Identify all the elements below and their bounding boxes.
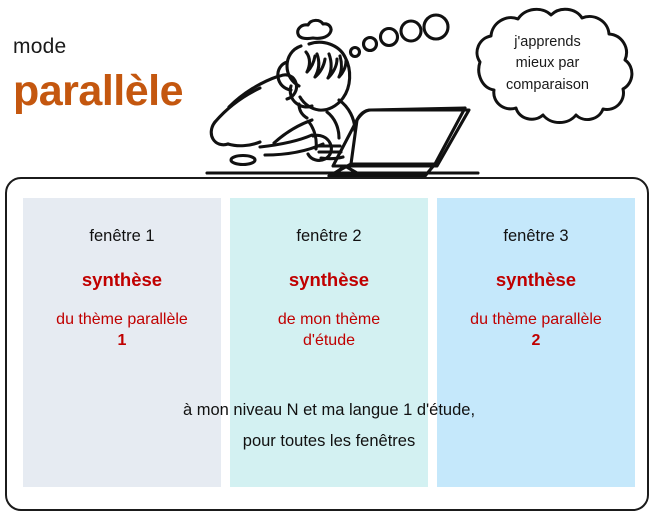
window-column-3-desc-plain: du thème parallèle (437, 309, 635, 330)
window-column-3-synthesis: synthèse (437, 271, 635, 290)
mode-title: parallèle (13, 70, 183, 113)
window-column-1-desc-plain: du thème parallèle (23, 309, 221, 330)
window-column-1-title: fenêtre 1 (23, 228, 221, 245)
windows-columns: fenêtre 1 synthèse du thème parallèle 1 … (23, 198, 635, 487)
window-column-1-description: du thème parallèle 1 (23, 309, 221, 352)
parallel-mode-panel: fenêtre 1 synthèse du thème parallèle 1 … (5, 177, 649, 511)
window-column-2[interactable]: fenêtre 2 synthèse de mon thème d'étude (230, 198, 428, 487)
window-column-3-title: fenêtre 3 (437, 228, 635, 245)
window-column-1[interactable]: fenêtre 1 synthèse du thème parallèle 1 (23, 198, 221, 487)
window-column-3-description: du thème parallèle 2 (437, 309, 635, 352)
window-column-2-desc-plain: de mon thème (230, 309, 428, 330)
thought-bubble: j'apprends mieux par comparaison (440, 2, 655, 144)
window-column-3-desc-emph: 2 (437, 330, 635, 351)
window-column-1-desc-emph: 1 (23, 330, 221, 351)
window-column-1-synthesis: synthèse (23, 271, 221, 290)
student-at-laptop-illustration (205, 0, 480, 180)
window-column-2-synthesis: synthèse (230, 271, 428, 290)
mode-label: mode (13, 36, 66, 57)
window-column-3[interactable]: fenêtre 3 synthèse du thème parallèle 2 (437, 198, 635, 487)
window-column-2-description: de mon thème d'étude (230, 309, 428, 352)
window-column-2-title: fenêtre 2 (230, 228, 428, 245)
header-area: mode parallèle (0, 0, 657, 176)
window-column-2-desc-emph: d'étude (230, 330, 428, 351)
